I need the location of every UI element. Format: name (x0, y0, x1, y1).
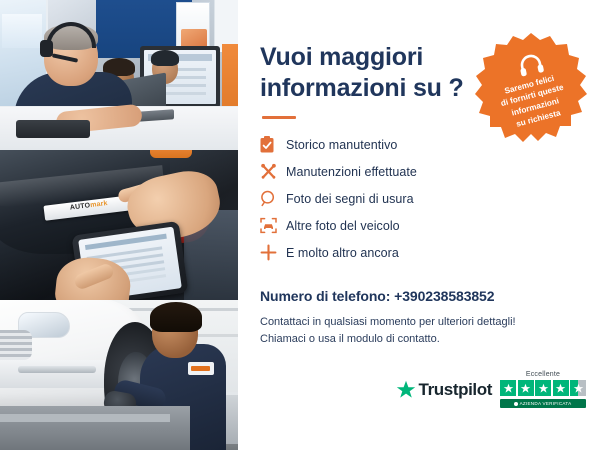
title-divider (262, 116, 296, 119)
trustpilot-star-icon (396, 380, 416, 400)
trustpilot-stars (500, 380, 586, 396)
photo2-strip-brand-text: AUTOmark (69, 200, 108, 212)
feature-label: Foto dei segni di usura (286, 192, 414, 206)
verified-label: AZIENDA VERIFICATA (520, 401, 572, 406)
photo1-headset-earcup (40, 40, 53, 57)
plus-icon (260, 242, 286, 264)
contact-description: Contattaci in qualsiasi momento per ulte… (260, 314, 578, 349)
vehicle-inspection-photo: AUTOmark (0, 150, 238, 300)
star-filled (500, 380, 516, 396)
star-filled (518, 380, 534, 396)
feature-label: Altre foto del veicolo (286, 219, 400, 233)
photo3-bumper (0, 360, 120, 388)
photo1-background-agent2-hair (151, 50, 179, 66)
headline-line-2: informazioni su ? (260, 73, 470, 104)
clipboard-check-icon (260, 134, 286, 156)
feature-item-wear-photos: Foto dei segni di usura (260, 185, 578, 212)
photo3-vehicle-lift (0, 406, 190, 450)
photo3-grille (0, 330, 32, 360)
promo-card: AUTOmark (0, 0, 600, 450)
mechanic-wheel-photo (0, 300, 238, 450)
trustpilot-logo: Trustpilot (396, 380, 492, 400)
photo1-keyboard (16, 120, 90, 138)
call-center-agents-photo (0, 0, 238, 150)
feature-item-services-performed: Manutenzioni effettuate (260, 158, 578, 185)
verified-check-icon (514, 402, 518, 406)
trustpilot-widget[interactable]: Trustpilot Eccellente (396, 371, 586, 408)
contact-line-2: Chiamaci o usa il modulo di contatto. (260, 331, 578, 348)
feature-label: Manutenzioni effettuate (286, 165, 417, 179)
trustpilot-brand-name: Trustpilot (419, 380, 492, 400)
photo3-uniform-logo-patch (188, 362, 214, 375)
contact-line-1: Contattaci in qualsiasi momento per ulte… (260, 314, 578, 331)
feature-item-vehicle-photos: Altre foto del veicolo (260, 212, 578, 239)
feature-label: Storico manutentivo (286, 138, 397, 152)
magnifier-icon (260, 188, 286, 210)
strip-brand-prefix: AUTO (69, 202, 90, 211)
photo-column: AUTOmark (0, 0, 238, 450)
on-request-badge: Saremo felici di fornirti queste informa… (470, 30, 592, 152)
photo2-orange-accent (150, 150, 192, 158)
page-title: Vuoi maggiori informazioni su ? (260, 42, 470, 103)
star-filled (553, 380, 569, 396)
feature-item-much-more: E molto altro ancora (260, 239, 578, 266)
content-panel: Vuoi maggiori informazioni su ? Saremo f… (238, 0, 600, 450)
photo3-mechanic-hair (150, 302, 202, 332)
photo3-chrome-trim (18, 366, 96, 373)
car-photo-frame-icon (260, 215, 286, 237)
headline-line-1: Vuoi maggiori (260, 42, 470, 73)
trustpilot-rating-word: Eccellente (526, 371, 560, 378)
star-filled (535, 380, 551, 396)
phone-number[interactable]: +390238583852 (394, 288, 494, 304)
phone-label: Numero di telefono: (260, 288, 390, 304)
trustpilot-rating: Eccellente (500, 371, 586, 408)
tools-cross-icon (260, 161, 286, 183)
verified-business-badge: AZIENDA VERIFICATA (500, 399, 586, 408)
star-half (570, 380, 586, 396)
strip-brand-suffix: mark (90, 200, 108, 209)
phone-number-line: Numero di telefono: +390238583852 (260, 288, 578, 304)
feature-label: E molto altro ancora (286, 246, 399, 260)
